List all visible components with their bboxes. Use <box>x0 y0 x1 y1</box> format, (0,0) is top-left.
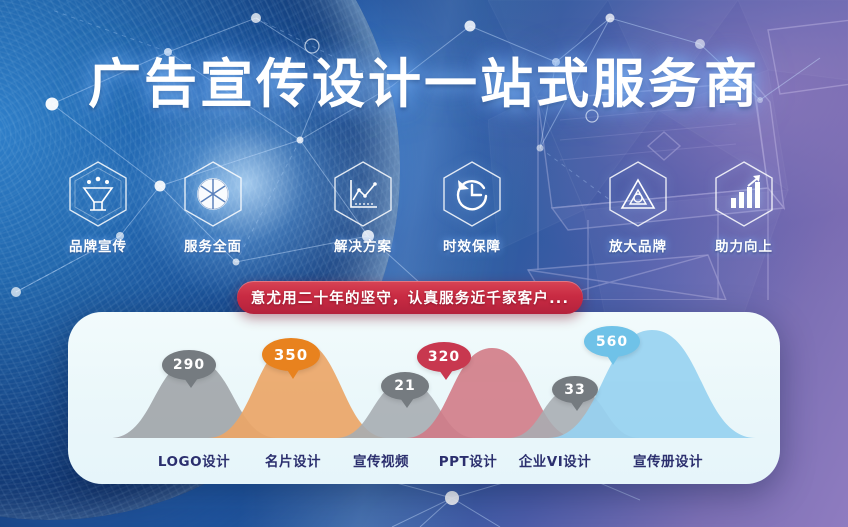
slogan-banner: 意尤用二十年的坚守，认真服务近千家客户... <box>237 281 583 314</box>
feature-item-full-service[interactable]: 服务全面 <box>165 160 261 255</box>
feature-item-brand-promotion[interactable]: 品牌宣传 <box>50 160 146 255</box>
value-bubble-text: 33 <box>552 376 598 403</box>
feature-item-amplify-brand[interactable]: 放大品牌 <box>590 160 686 255</box>
feature-label: 品牌宣传 <box>50 235 146 255</box>
value-bubble-logo: 290 <box>162 350 216 380</box>
stats-card: 290 350 21 320 33 560 LOGO设计 名片设计 宣传视频 <box>68 312 780 484</box>
value-bubble-ppt: 320 <box>417 342 471 372</box>
value-bubble-text: 560 <box>584 326 640 357</box>
feature-item-boost-upward[interactable]: 助力向上 <box>696 160 792 255</box>
line-chart-hex-icon <box>331 160 395 228</box>
bar-growth-hex-icon <box>712 160 776 228</box>
value-bubble-brochure: 560 <box>584 326 640 357</box>
slogan-text: 意尤用二十年的坚守，认真服务近千家客户... <box>251 287 569 308</box>
value-bubble-text: 320 <box>417 342 471 372</box>
page-title: 广告宣传设计一站式服务商 <box>0 57 848 113</box>
triangle-pyramid-hex-icon <box>606 160 670 228</box>
value-bubble-video: 21 <box>381 372 429 400</box>
feature-label: 时效保障 <box>424 235 520 255</box>
value-bubble-namecard: 350 <box>262 338 320 371</box>
feature-label: 解决方案 <box>315 235 411 255</box>
value-bubble-vi: 33 <box>552 376 598 403</box>
megaphone-hex-icon <box>66 160 130 228</box>
x-label-brochure: 宣传册设计 <box>598 450 738 470</box>
value-bubble-text: 290 <box>162 350 216 380</box>
feature-label: 服务全面 <box>165 235 261 255</box>
feature-item-solutions[interactable]: 解决方案 <box>315 160 411 255</box>
promo-banner: 广告宣传设计一站式服务商 品牌宣传 <box>0 0 848 527</box>
value-bubble-text: 350 <box>262 338 320 371</box>
clock-rotate-hex-icon <box>440 160 504 228</box>
value-bubble-text: 21 <box>381 372 429 400</box>
feature-icon-row: 品牌宣传 服务 <box>0 160 848 252</box>
feature-label: 助力向上 <box>696 235 792 255</box>
x-label-logo: LOGO设计 <box>134 450 254 470</box>
chart-x-axis-labels: LOGO设计 名片设计 宣传视频 PPT设计 企业VI设计 宣传册设计 <box>68 450 780 472</box>
camera-aperture-hex-icon <box>181 160 245 228</box>
feature-item-timeliness[interactable]: 时效保障 <box>424 160 520 255</box>
feature-label: 放大品牌 <box>590 235 686 255</box>
